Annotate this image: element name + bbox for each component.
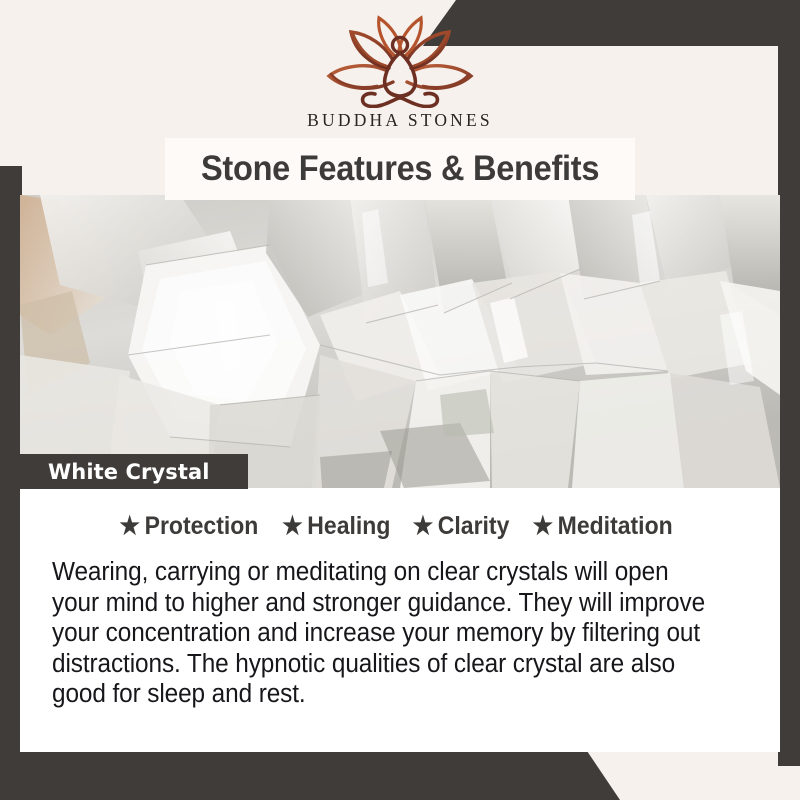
lotus-meditation-icon	[315, 12, 485, 108]
brand-logo: BUDDHA STONES	[22, 12, 778, 131]
description-text: Wearing, carrying or meditating on clear…	[52, 557, 715, 710]
benefit-item-protection: ★ Protection	[119, 512, 266, 541]
star-icon: ★	[412, 514, 433, 539]
brand-name: BUDDHA STONES	[307, 110, 493, 131]
title-banner: Stone Features & Benefits	[165, 138, 635, 200]
poster-root: BUDDHA STONES Stone Features & Benefits	[0, 0, 800, 800]
main-card: BUDDHA STONES Stone Features & Benefits	[22, 46, 778, 752]
white-crystal-cluster-photo	[20, 195, 780, 488]
benefit-label: Healing	[307, 512, 398, 541]
benefit-item-meditation: ★ Meditation	[532, 512, 681, 541]
photo-caption: White Crystal	[48, 460, 210, 484]
benefits-list: ★ Protection ★ Healing ★ Clarity ★ Medit…	[20, 512, 780, 541]
benefit-item-clarity: ★ Clarity	[412, 512, 517, 541]
page-title: Stone Features & Benefits	[201, 149, 599, 189]
photo-caption-bar: White Crystal	[20, 454, 248, 489]
star-icon: ★	[119, 514, 140, 539]
decorative-bar-right	[778, 46, 800, 766]
benefit-label: Protection	[144, 512, 266, 541]
benefit-item-healing: ★ Healing	[282, 512, 399, 541]
benefit-label: Clarity	[437, 512, 517, 541]
decorative-bar-left	[0, 166, 22, 752]
benefit-label: Meditation	[557, 512, 680, 541]
decorative-bar-bottom-left	[0, 748, 620, 800]
content-panel: ★ Protection ★ Healing ★ Clarity ★ Medit…	[20, 488, 780, 752]
star-icon: ★	[532, 514, 553, 539]
star-icon: ★	[282, 514, 303, 539]
